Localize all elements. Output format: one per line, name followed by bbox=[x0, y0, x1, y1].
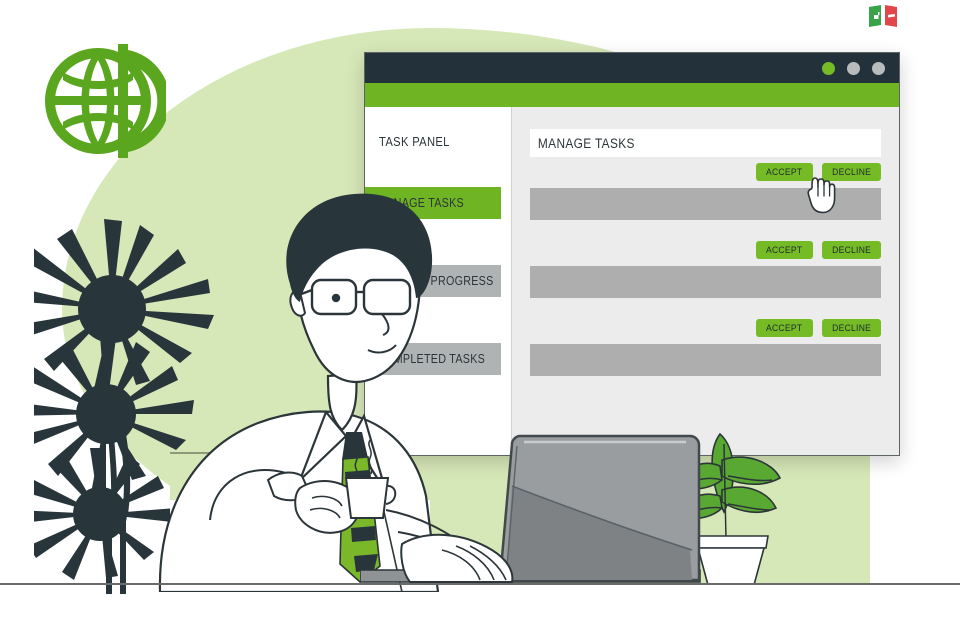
window-toolbar bbox=[365, 83, 899, 108]
page-title: MANAGE TASKS bbox=[530, 136, 635, 151]
accept-decline-badge bbox=[866, 3, 902, 29]
hand-on-keyboard bbox=[400, 520, 530, 586]
task-placeholder-bar[interactable] bbox=[530, 344, 881, 376]
content-panel: MANAGE TASKS ACCEPT DECLINE bbox=[512, 107, 899, 455]
task-row: ACCEPT DECLINE bbox=[530, 241, 881, 298]
accept-button[interactable]: ACCEPT bbox=[756, 241, 812, 259]
accept-button-label: ACCEPT bbox=[766, 167, 802, 178]
content-header: MANAGE TASKS bbox=[530, 129, 881, 157]
desk-edge-line bbox=[0, 583, 960, 585]
sidebar-title: TASK PANEL bbox=[379, 134, 450, 149]
decline-button-label: DECLINE bbox=[832, 323, 871, 334]
window-dot-grey-2[interactable] bbox=[872, 62, 885, 75]
steaming-coffee-mug bbox=[340, 438, 400, 520]
globe-logo bbox=[36, 42, 166, 160]
illustration-stage: TASK PANEL MANAGE TASKS TASKS IN PROGRES… bbox=[0, 0, 960, 620]
window-dot-green[interactable] bbox=[822, 62, 835, 75]
decline-button-label: DECLINE bbox=[832, 245, 871, 256]
task-row: ACCEPT DECLINE bbox=[530, 319, 881, 376]
window-dot-grey-1[interactable] bbox=[847, 62, 860, 75]
accept-button-label: ACCEPT bbox=[766, 245, 802, 256]
task-actions: ACCEPT DECLINE bbox=[530, 241, 881, 259]
pointing-hand-cursor bbox=[800, 168, 844, 216]
window-titlebar bbox=[365, 53, 899, 83]
decline-button[interactable]: DECLINE bbox=[822, 319, 881, 337]
accept-button[interactable]: ACCEPT bbox=[756, 319, 812, 337]
decline-button[interactable]: DECLINE bbox=[822, 241, 881, 259]
task-placeholder-bar[interactable] bbox=[530, 266, 881, 298]
task-actions: ACCEPT DECLINE bbox=[530, 319, 881, 337]
accept-button-label: ACCEPT bbox=[766, 323, 802, 334]
